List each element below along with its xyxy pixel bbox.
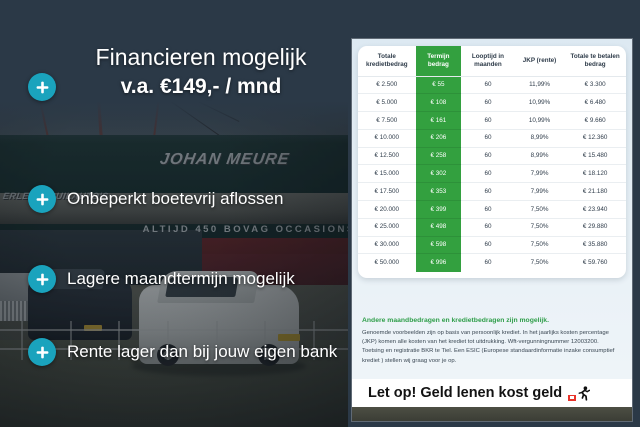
table-cell: € 23.940 bbox=[564, 201, 626, 219]
bullet-label: Lagere maandtermijn mogelijk bbox=[67, 269, 295, 289]
table-header-cell: Looptijd in maanden bbox=[461, 46, 515, 76]
table-cell: 8,99% bbox=[515, 147, 565, 165]
table-header-cell: JKP (rente) bbox=[515, 46, 565, 76]
table-row: € 17.500€ 353607,99%€ 21.180 bbox=[358, 183, 626, 201]
loan-table-body: € 2.500€ 556011,99%€ 3.300€ 5.000€ 10860… bbox=[358, 76, 626, 272]
right-panel-bottom-strip bbox=[352, 407, 632, 421]
afm-warning-bar: Let op! Geld lenen kost geld bbox=[352, 379, 632, 407]
right-info-panel: Totale kredietbedragTermijn bedragLoopti… bbox=[348, 33, 640, 427]
table-cell: 60 bbox=[461, 236, 515, 254]
table-cell: € 399 bbox=[416, 201, 462, 219]
table-cell: € 15.480 bbox=[564, 147, 626, 165]
table-cell: 60 bbox=[461, 183, 515, 201]
table-row: € 12.500€ 258608,99%€ 15.480 bbox=[358, 147, 626, 165]
table-cell: 60 bbox=[461, 218, 515, 236]
afm-warning-text: Let op! Geld lenen kost geld bbox=[368, 385, 562, 401]
table-row: € 25.000€ 498607,50%€ 29.880 bbox=[358, 218, 626, 236]
headline-line-2: v.a. €149,- / mnd bbox=[60, 74, 342, 99]
table-cell: € 5.000 bbox=[358, 94, 416, 112]
disclaimer-heading: Andere maandbedragen en kredietbedragen … bbox=[362, 317, 622, 325]
table-header-cell: Termijn bedrag bbox=[416, 46, 462, 76]
bullet-label: Rente lager dan bij jouw eigen bank bbox=[67, 342, 337, 362]
plus-icon bbox=[28, 265, 56, 293]
table-cell: 10,99% bbox=[515, 112, 565, 130]
table-cell: € 258 bbox=[416, 147, 462, 165]
disclaimer-body: Genoemde voorbeelden zijn op basis van p… bbox=[362, 329, 622, 366]
running-man-glyph bbox=[577, 386, 590, 401]
table-cell: € 108 bbox=[416, 94, 462, 112]
bullet-label: Onbeperkt boetevrij aflossen bbox=[67, 189, 283, 209]
table-row: € 15.000€ 302607,99%€ 18.120 bbox=[358, 165, 626, 183]
table-cell: € 598 bbox=[416, 236, 462, 254]
bullet-item-aflossen: Onbeperkt boetevrij aflossen bbox=[28, 185, 283, 213]
table-cell: € 9.660 bbox=[564, 112, 626, 130]
table-cell: € 30.000 bbox=[358, 236, 416, 254]
bullet-item-financieren bbox=[28, 73, 56, 101]
table-cell: € 25.000 bbox=[358, 218, 416, 236]
table-cell: 60 bbox=[461, 201, 515, 219]
table-cell: 60 bbox=[461, 76, 515, 94]
bullet-item-rente: Rente lager dan bij jouw eigen bank bbox=[28, 338, 337, 366]
headline-block: Financieren mogelijk v.a. €149,- / mnd bbox=[60, 45, 342, 99]
table-row: € 20.000€ 399607,50%€ 23.940 bbox=[358, 201, 626, 219]
table-cell: 7,99% bbox=[515, 183, 565, 201]
table-header-cell: Totale te betalen bedrag bbox=[564, 46, 626, 76]
table-cell: € 20.000 bbox=[358, 201, 416, 219]
table-cell: € 353 bbox=[416, 183, 462, 201]
table-cell: € 302 bbox=[416, 165, 462, 183]
loan-table-head: Totale kredietbedragTermijn bedragLoopti… bbox=[358, 46, 626, 76]
plus-icon bbox=[28, 338, 56, 366]
afm-exit-box-icon bbox=[568, 395, 576, 401]
table-cell: 60 bbox=[461, 94, 515, 112]
table-cell: € 3.300 bbox=[564, 76, 626, 94]
table-cell: € 7.500 bbox=[358, 112, 416, 130]
table-cell: 60 bbox=[461, 147, 515, 165]
plus-icon bbox=[28, 185, 56, 213]
table-row: € 7.500€ 1616010,99%€ 9.660 bbox=[358, 112, 626, 130]
table-cell: 7,50% bbox=[515, 218, 565, 236]
left-photo-panel: ERLER INRUILAUTO'S JOHAN MEURE ALTIJD 45… bbox=[0, 33, 348, 427]
table-cell: € 12.360 bbox=[564, 129, 626, 147]
table-row: € 50.000€ 996607,50%€ 59.760 bbox=[358, 254, 626, 272]
table-cell: € 17.500 bbox=[358, 183, 416, 201]
disclaimer-block: Andere maandbedragen en kredietbedragen … bbox=[362, 317, 622, 366]
table-cell: € 996 bbox=[416, 254, 462, 272]
table-header-cell: Totale kredietbedrag bbox=[358, 46, 416, 76]
table-cell: 7,50% bbox=[515, 254, 565, 272]
table-cell: € 12.500 bbox=[358, 147, 416, 165]
table-row: € 30.000€ 598607,50%€ 35.880 bbox=[358, 236, 626, 254]
table-cell: € 18.120 bbox=[564, 165, 626, 183]
afm-running-man-icon bbox=[568, 386, 590, 401]
table-cell: € 15.000 bbox=[358, 165, 416, 183]
headline-line-1: Financieren mogelijk bbox=[60, 45, 342, 71]
bullet-item-maandtermijn: Lagere maandtermijn mogelijk bbox=[28, 265, 295, 293]
table-cell: 7,50% bbox=[515, 236, 565, 254]
table-cell: € 21.180 bbox=[564, 183, 626, 201]
table-cell: 60 bbox=[461, 254, 515, 272]
table-cell: € 2.500 bbox=[358, 76, 416, 94]
table-row: € 10.000€ 206608,99%€ 12.360 bbox=[358, 129, 626, 147]
table-cell: 7,50% bbox=[515, 201, 565, 219]
table-cell: 60 bbox=[461, 129, 515, 147]
table-cell: € 6.480 bbox=[564, 94, 626, 112]
table-cell: € 50.000 bbox=[358, 254, 416, 272]
table-cell: € 206 bbox=[416, 129, 462, 147]
table-cell: 11,99% bbox=[515, 76, 565, 94]
table-cell: 60 bbox=[461, 112, 515, 130]
table-cell: € 10.000 bbox=[358, 129, 416, 147]
table-cell: 8,99% bbox=[515, 129, 565, 147]
table-cell: € 29.880 bbox=[564, 218, 626, 236]
table-cell: € 59.760 bbox=[564, 254, 626, 272]
table-cell: 60 bbox=[461, 165, 515, 183]
table-cell: 7,99% bbox=[515, 165, 565, 183]
table-row: € 5.000€ 1086010,99%€ 6.480 bbox=[358, 94, 626, 112]
table-cell: 10,99% bbox=[515, 94, 565, 112]
table-cell: € 35.880 bbox=[564, 236, 626, 254]
table-cell: € 55 bbox=[416, 76, 462, 94]
plus-icon bbox=[28, 73, 56, 101]
right-panel-inner: Totale kredietbedragTermijn bedragLoopti… bbox=[352, 39, 632, 421]
table-cell: € 161 bbox=[416, 112, 462, 130]
table-cell: € 498 bbox=[416, 218, 462, 236]
loan-table: Totale kredietbedragTermijn bedragLoopti… bbox=[358, 46, 626, 272]
promo-banner-page: ERLER INRUILAUTO'S JOHAN MEURE ALTIJD 45… bbox=[0, 0, 640, 427]
table-header-row: Totale kredietbedragTermijn bedragLoopti… bbox=[358, 46, 626, 76]
table-row: € 2.500€ 556011,99%€ 3.300 bbox=[358, 76, 626, 94]
loan-table-card: Totale kredietbedragTermijn bedragLoopti… bbox=[358, 46, 626, 278]
